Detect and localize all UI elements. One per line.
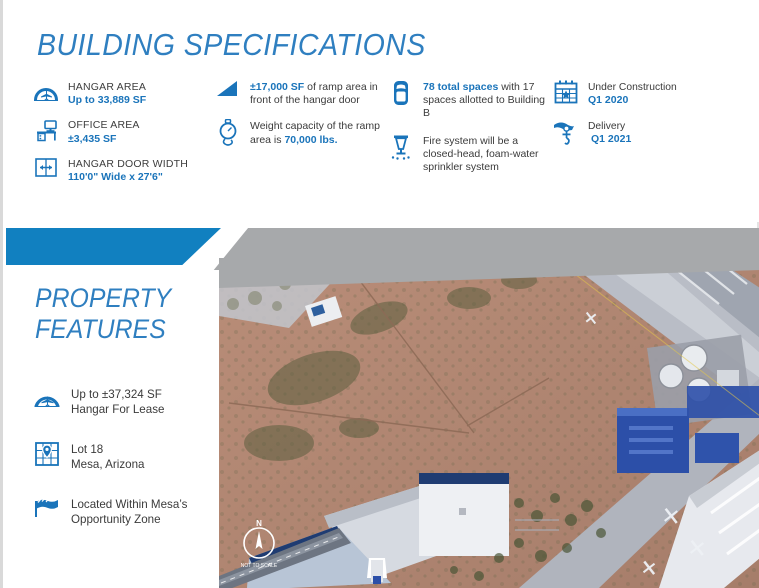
spec-item-delivery: Delivery Q1 2021	[553, 119, 738, 147]
spec-item-weight-capacity: Weight capacity of the ramp area is 70,0…	[215, 119, 385, 146]
feature-list: Up to ±37,324 SF Hangar For Lease	[33, 386, 213, 551]
spec-text: OFFICE AREA ±3,435 SF	[68, 118, 140, 145]
door-width-icon	[33, 157, 59, 183]
feature-line-2: Opportunity Zone	[71, 513, 161, 526]
spec-value: Up to 33,889 SF	[68, 94, 146, 106]
property-features-title: PROPERTY FEATURES	[35, 283, 171, 345]
spec-item-hangar-area: HANGAR AREA Up to 33,889 SF	[33, 80, 213, 107]
calendar-icon	[553, 80, 579, 106]
hangar-icon	[33, 386, 61, 414]
feature-line-2: Hangar For Lease	[71, 403, 164, 416]
spec-text: Delivery Q1 2021	[588, 119, 631, 147]
spec-column-2: ±17,000 SF of ramp area in front of the …	[215, 80, 385, 158]
car-icon	[388, 80, 414, 106]
spec-item-ramp-area: ±17,000 SF of ramp area in front of the …	[215, 80, 385, 107]
feature-line-2: Mesa, Arizona	[71, 458, 144, 471]
map-pin-icon	[33, 441, 61, 469]
spec-item-hangar-door-width: HANGAR DOOR WIDTH 110'0" Wide x 27'6"	[33, 157, 213, 184]
spec-highlight: 70,000 lbs.	[284, 134, 337, 146]
hangar-icon	[33, 80, 59, 106]
spec-text: Under Construction Q1 2020	[588, 80, 677, 108]
feature-item-opportunity-zone: Located Within Mesa’s Opportunity Zone	[33, 496, 213, 527]
feature-text: Up to ±37,324 SF Hangar For Lease	[71, 386, 164, 417]
spec-label: HANGAR AREA	[68, 81, 146, 93]
office-desk-icon	[33, 118, 59, 144]
spec-label: Under Construction	[588, 82, 677, 93]
spec-label: HANGAR DOOR WIDTH	[68, 158, 188, 170]
spec-value: Q1 2020	[588, 94, 628, 106]
spec-highlight: 78 total spaces	[423, 81, 498, 93]
spec-value: ±3,435 SF	[68, 133, 116, 145]
aerial-imagery: N NOT TO SCALE	[219, 258, 759, 588]
title-line-1: PROPERTY	[35, 283, 171, 313]
weight-scale-icon	[215, 119, 241, 145]
spec-text: ±17,000 SF of ramp area in front of the …	[250, 80, 385, 107]
feature-line-1: Lot 18	[71, 443, 103, 456]
spec-highlight: ±17,000 SF	[250, 81, 304, 93]
ramp-triangle-icon	[215, 80, 241, 106]
spec-column-4: Under Construction Q1 2020	[553, 80, 738, 157]
spec-label: OFFICE AREA	[68, 119, 140, 131]
spec-text: HANGAR DOOR WIDTH 110'0" Wide x 27'6"	[68, 157, 188, 184]
feature-item-location: Lot 18 Mesa, Arizona	[33, 441, 213, 472]
aerial-site-map: N NOT TO SCALE	[219, 258, 759, 588]
compass-north-label: N	[256, 519, 262, 528]
flag-icon	[33, 496, 61, 524]
page-title: BUILDING SPECIFICATIONS	[37, 28, 426, 62]
title-line-2: FEATURES	[35, 314, 166, 344]
feature-item-hangar: Up to ±37,324 SF Hangar For Lease	[33, 386, 213, 417]
crane-hook-icon	[553, 119, 579, 145]
feature-text: Located Within Mesa’s Opportunity Zone	[71, 496, 187, 527]
spec-label: Delivery	[588, 121, 625, 132]
spec-text: HANGAR AREA Up to 33,889 SF	[68, 80, 146, 107]
spec-item-under-construction: Under Construction Q1 2020	[553, 80, 738, 108]
spec-column-3: 78 total spaces with 17 spaces allotted …	[388, 80, 553, 185]
feature-line-1: Up to ±37,324 SF	[71, 388, 162, 401]
spec-value: Q1 2021	[591, 133, 631, 146]
spec-text: Fire system will be a closed-head, foam-…	[423, 134, 553, 175]
sprinkler-icon	[388, 134, 414, 160]
brochure-page: BUILDING SPECIFICATIONS HANGAR AREA Up t…	[0, 0, 759, 588]
building-specifications-section: BUILDING SPECIFICATIONS HANGAR AREA Up t…	[3, 0, 759, 222]
spec-column-1: HANGAR AREA Up to 33,889 SF	[33, 80, 213, 195]
spec-item-office-area: OFFICE AREA ±3,435 SF	[33, 118, 213, 145]
spec-value: 110'0" Wide x 27'6"	[68, 171, 163, 183]
spec-text: Weight capacity of the ramp area is 70,0…	[250, 119, 385, 146]
property-features-section: PROPERTY FEATURES Up to ±37,324 SF Hanga…	[3, 258, 759, 588]
scale-label: NOT TO SCALE	[241, 563, 278, 569]
feature-line-1: Located Within Mesa’s	[71, 498, 187, 511]
feature-text: Lot 18 Mesa, Arizona	[71, 441, 144, 472]
spec-item-fire-system: Fire system will be a closed-head, foam-…	[388, 134, 553, 175]
spec-text: 78 total spaces with 17 spaces allotted …	[423, 80, 553, 121]
spec-item-parking: 78 total spaces with 17 spaces allotted …	[388, 80, 553, 121]
